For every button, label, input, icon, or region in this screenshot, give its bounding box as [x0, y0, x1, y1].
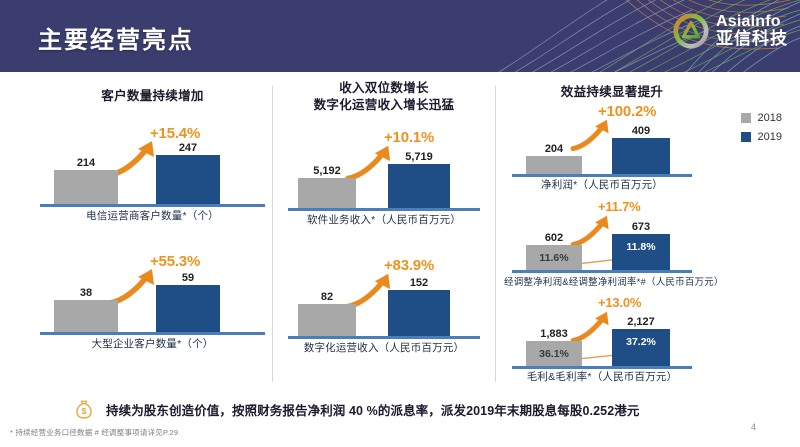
chart-adjusted-net-profit: +11.7% 602 11.6% 673 11.8% 经调整净利润&经调整净利润… — [512, 217, 712, 273]
column-title-1-line1: 客户数量持续增加 — [101, 89, 203, 103]
column-title-1: 客户数量持续增加 — [40, 88, 265, 105]
growth-label-2-2: +83.9% — [384, 257, 434, 274]
chart-baseline-3-2 — [512, 270, 692, 273]
column-title-2: 收入双位数增长 数字化运营收入增长迅猛 — [288, 80, 480, 113]
bar-2018-2-2 — [298, 304, 356, 336]
column-title-2-line2: 数字化运营收入增长迅猛 — [288, 97, 480, 114]
bar-value-2018-3-2: 602 — [526, 232, 582, 244]
rate-2019-3-3: 37.2% — [612, 336, 670, 348]
bar-value-2019-1-2: 59 — [156, 272, 220, 284]
rate-2018-3-2: 11.6% — [526, 252, 582, 264]
axis-label-1-1: 电信运营商客户数量*（个） — [40, 208, 265, 223]
footer-banner: $ 持续为股东创造价值，按照财务报告净利润 40 %的派息率，派发2019年末期… — [0, 392, 800, 426]
bar-2019-1-1 — [156, 155, 220, 204]
axis-label-1-2: 大型企业客户数量*（个） — [40, 336, 265, 351]
chart-digital-revenue: +83.9% 82 152 数字化运营收入（人民币百万元） — [288, 267, 480, 339]
bar-2019-1-2 — [156, 285, 220, 332]
growth-label-3-2: +11.7% — [598, 199, 641, 214]
legend-swatch-2018-icon — [741, 113, 751, 123]
chart-baseline-1-1 — [40, 204, 265, 207]
column-customers: 客户数量持续增加 +15.4% 214 247 电信运营商客户数量*（个） +5… — [40, 72, 265, 335]
asiainfo-logo-icon — [672, 12, 710, 50]
column-title-3: 效益持续显著提升 — [512, 84, 712, 101]
chart-baseline-2-2 — [288, 336, 480, 339]
growth-label-3-1: +100.2% — [598, 103, 656, 120]
legend-swatch-2019-icon — [741, 132, 751, 142]
chart-baseline-1-2 — [40, 332, 265, 335]
bar-2018-3-1 — [526, 156, 582, 174]
bar-2018-1-1 — [54, 170, 118, 204]
brand-logo: AsiaInfo 亚信科技 — [672, 12, 788, 50]
chart-legend: 2018 2019 — [741, 112, 782, 150]
bar-2018-2-1 — [298, 178, 356, 208]
column-profitability: 效益持续显著提升 +100.2% 204 409 净利润*（人民币百万元） +1… — [512, 72, 712, 369]
legend-label-2019: 2019 — [758, 131, 782, 143]
logo-wordmark: AsiaInfo 亚信科技 — [716, 14, 788, 48]
axis-label-2-1: 软件业务收入*（人民币百万元） — [288, 212, 480, 227]
chart-software-revenue: +10.1% 5,192 5,719 软件业务收入*（人民币百万元） — [288, 139, 480, 211]
legend-item-2019: 2019 — [741, 131, 782, 143]
growth-label-1-2: +55.3% — [150, 253, 200, 270]
bar-2019-2-1 — [388, 164, 450, 208]
axis-label-3-3: 毛利&毛利率*（人民币百万元） — [512, 369, 692, 384]
legend-item-2018: 2018 — [741, 112, 782, 124]
page-number: 4 — [751, 422, 756, 432]
bar-value-2019-3-1: 409 — [612, 125, 670, 137]
bar-2019-3-1 — [612, 138, 670, 174]
bar-value-2018-1-1: 214 — [54, 157, 118, 169]
bar-2018-1-2 — [54, 300, 118, 332]
column-revenue: 收入双位数增长 数字化运营收入增长迅猛 +10.1% 5,192 5,719 软… — [288, 72, 480, 339]
growth-arrow-icon-2-1 — [344, 143, 394, 183]
chart-enterprise-customers: +55.3% 38 59 大型企业客户数量*（个） — [40, 263, 265, 335]
slide-root: 主要经营亮点 — [0, 0, 800, 447]
bar-value-2018-3-1: 204 — [526, 143, 582, 155]
footnote-text: * 持续经营业务口径数据 # 经调整事项请详见P.29 — [10, 427, 178, 438]
column-divider-2 — [495, 86, 496, 382]
chart-baseline-2-1 — [288, 208, 480, 211]
logo-text-cn: 亚信科技 — [716, 30, 788, 47]
column-title-2-line1: 收入双位数增长 — [288, 80, 480, 97]
rate-2018-3-3: 36.1% — [526, 348, 582, 360]
growth-label-3-3: +13.0% — [598, 295, 641, 310]
money-bag-icon: $ — [72, 397, 96, 421]
bar-value-2019-2-1: 5,719 — [388, 151, 450, 163]
bar-value-2018-2-2: 82 — [298, 291, 356, 303]
growth-label-2-1: +10.1% — [384, 129, 434, 146]
bar-value-2019-3-2: 673 — [612, 221, 670, 233]
bar-value-2018-3-3: 1,883 — [526, 328, 582, 340]
svg-text:$: $ — [82, 406, 87, 416]
bar-value-2018-2-1: 5,192 — [298, 165, 356, 177]
chart-gross-profit: +13.0% 1,883 36.1% 2,127 37.2% 毛利&毛利率*（人… — [512, 313, 712, 369]
slide-body: 客户数量持续增加 +15.4% 214 247 电信运营商客户数量*（个） +5… — [0, 72, 800, 392]
column-title-3-line1: 效益持续显著提升 — [561, 85, 663, 99]
bar-value-2019-2-2: 152 — [388, 277, 450, 289]
legend-label-2018: 2018 — [758, 112, 782, 124]
bar-value-2018-1-2: 38 — [54, 287, 118, 299]
bar-2019-2-2 — [388, 290, 450, 336]
chart-telecom-customers: +15.4% 214 247 电信运营商客户数量*（个） — [40, 135, 265, 207]
column-divider-1 — [272, 86, 273, 382]
axis-label-3-2: 经调整净利润&经调整净利润率*#（人民币百万元） — [504, 274, 704, 288]
growth-label-1-1: +15.4% — [150, 125, 200, 142]
rate-2019-3-2: 11.8% — [612, 241, 670, 253]
page-title: 主要经营亮点 — [38, 20, 194, 55]
axis-label-3-1: 净利润*（人民币百万元） — [512, 177, 692, 192]
bar-value-2019-1-1: 247 — [156, 142, 220, 154]
chart-net-profit: +100.2% 204 409 净利润*（人民币百万元） — [512, 119, 712, 177]
bar-value-2019-3-3: 2,127 — [612, 316, 670, 328]
slide-header: 主要经营亮点 — [0, 0, 800, 72]
axis-label-2-2: 数字化运营收入（人民币百万元） — [288, 340, 480, 355]
footer-banner-text: 持续为股东创造价值，按照财务报告净利润 40 %的派息率，派发2019年末期股息… — [106, 400, 639, 419]
